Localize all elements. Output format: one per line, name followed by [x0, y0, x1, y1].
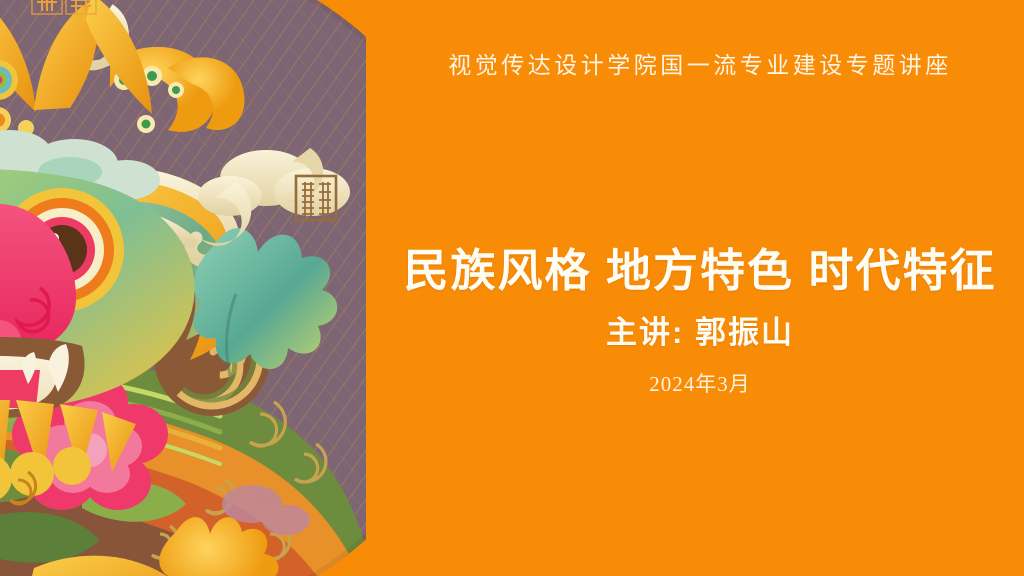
beard-rays — [0, 400, 136, 484]
beard-curls — [0, 470, 36, 504]
gold-flame-leaves — [0, 556, 240, 576]
speaker-name: 主讲: 郭振山 — [390, 307, 1010, 352]
dragon-claw — [194, 228, 338, 376]
face-base — [0, 169, 195, 409]
crown-horns — [0, 0, 152, 114]
beard-scallops — [0, 447, 91, 502]
dragon-wing — [110, 47, 245, 132]
lecture-series-kicker: 视觉传达设计学院国一流专业建设专题讲座 — [390, 46, 1010, 80]
wing-eye-spots — [114, 66, 184, 133]
curl-clouds — [152, 402, 326, 560]
mauve-clouds — [188, 485, 310, 568]
cloud-motif — [198, 148, 350, 246]
whiskers — [64, 173, 233, 261]
dragon-body — [64, 8, 350, 376]
swirl-with-orb — [77, 8, 124, 66]
nose — [0, 204, 76, 356]
crown-jewels — [0, 60, 34, 182]
brow-cloud — [0, 130, 160, 200]
lecture-date: 2024年3月 — [390, 368, 1010, 398]
peony-flower — [12, 372, 168, 510]
page-title: 民族风格 地方特色 时代特征 — [390, 234, 1010, 299]
circular-dragon-illustration — [0, 0, 366, 576]
wave-stripes — [0, 376, 220, 464]
dragon-head — [0, 0, 195, 504]
lower-pattern-field — [0, 300, 366, 576]
seal-top-left — [32, 0, 96, 14]
right-eye — [0, 188, 124, 312]
seal-stamp-right — [296, 176, 336, 220]
spiral-motif — [154, 300, 270, 416]
title-slide: 视觉传达设计学院国一流专业建设专题讲座 民族风格 地方特色 时代特征 主讲: 郭… — [0, 0, 1024, 576]
text-column: 视觉传达设计学院国一流专业建设专题讲座 民族风格 地方特色 时代特征 主讲: 郭… — [390, 0, 1010, 576]
leaves — [0, 385, 186, 562]
disc-content — [0, 0, 366, 576]
mouth — [0, 337, 85, 418]
brow-cloud-highlight — [0, 154, 102, 187]
gold-claw-lower — [159, 517, 278, 576]
disc-ground — [0, 0, 366, 576]
